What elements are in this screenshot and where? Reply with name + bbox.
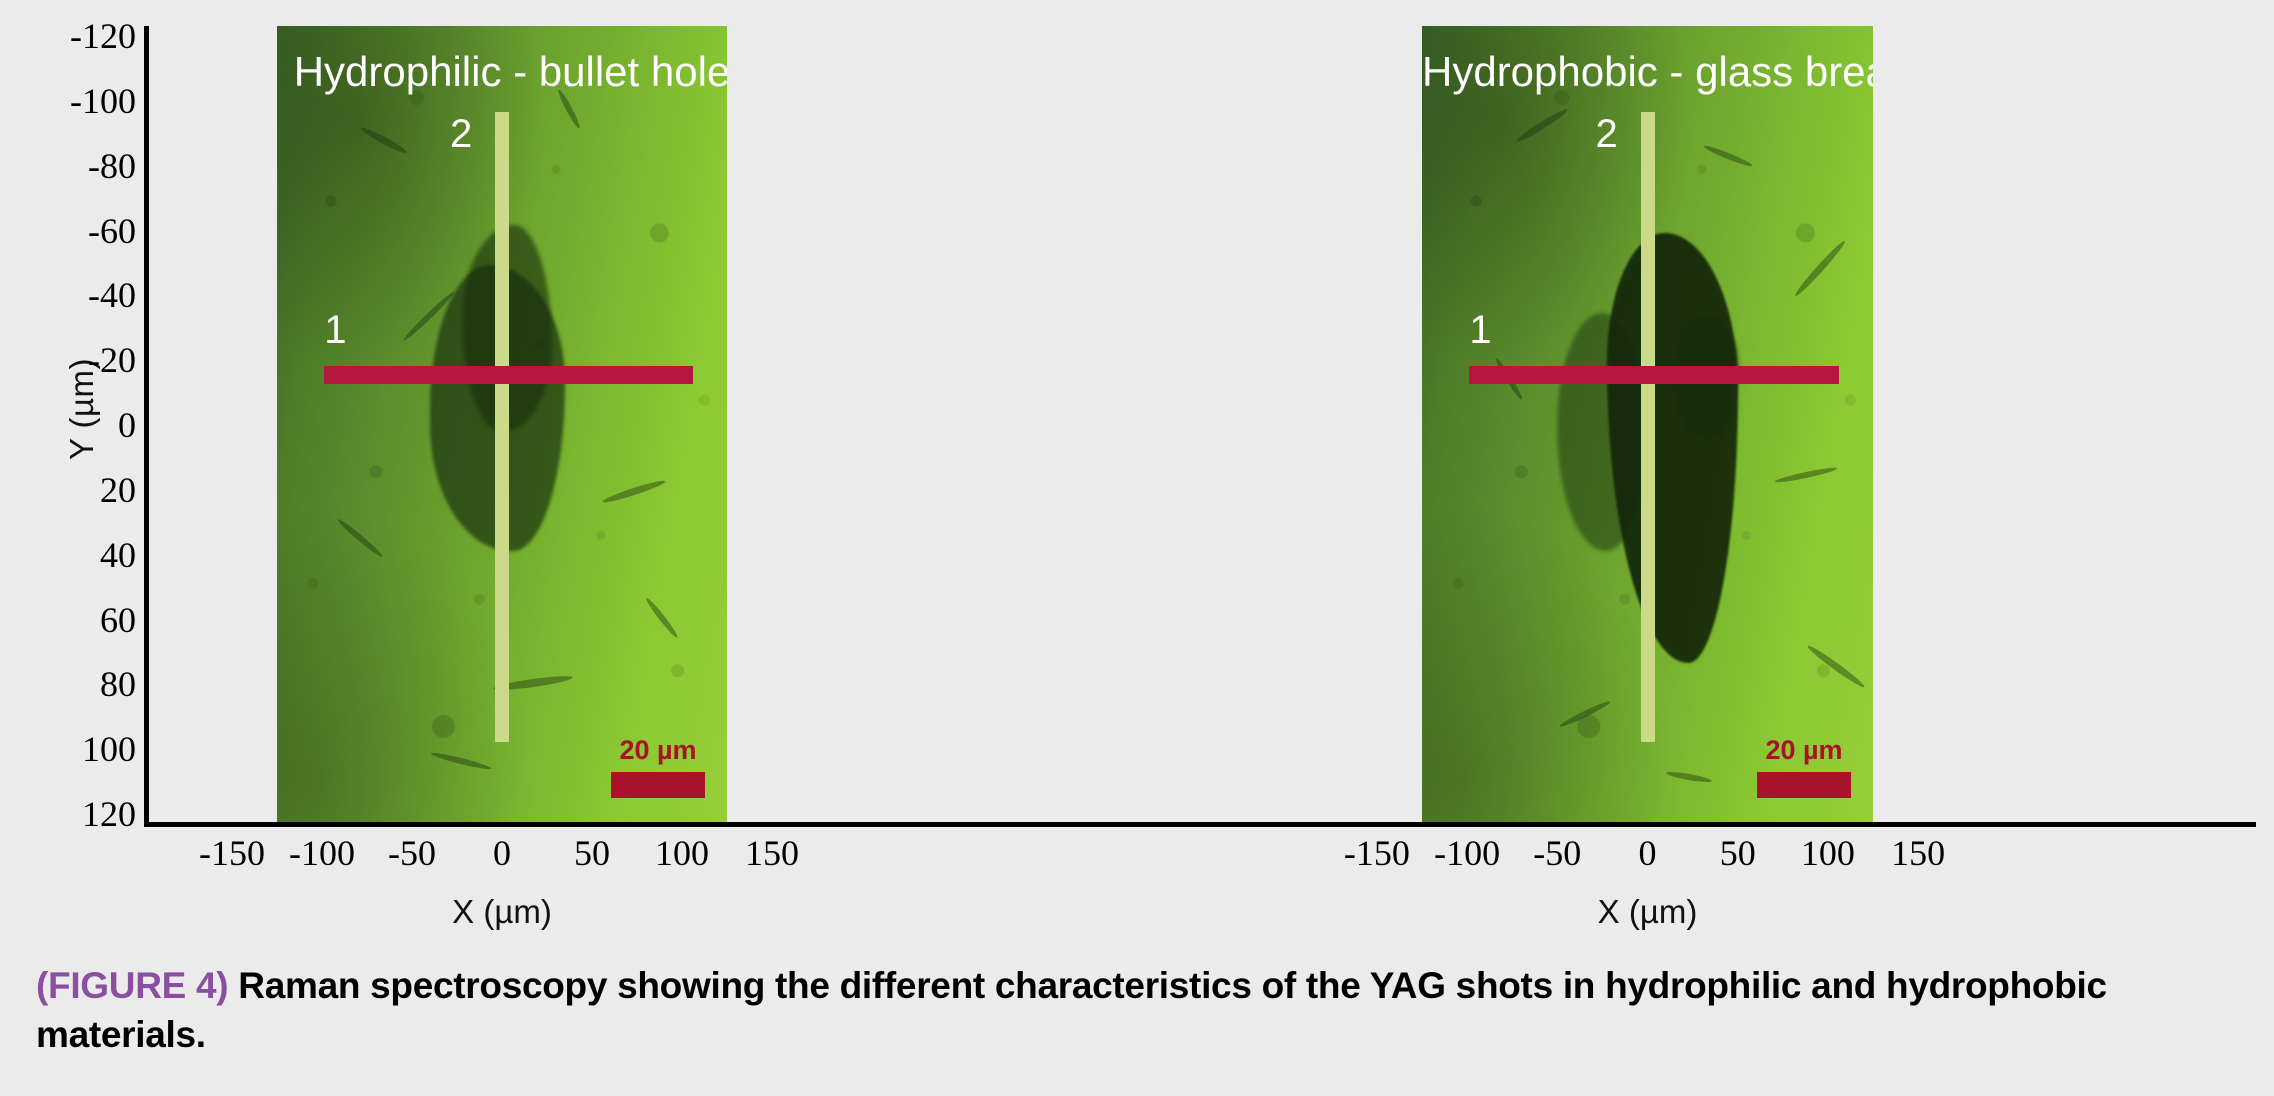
y-axis-spine <box>144 26 149 826</box>
scan-line-1-label: 1 <box>1469 308 1491 353</box>
figure-plot-area: Y (µm) -120-100-80-60-40-200204060801001… <box>0 0 2274 950</box>
figure-caption-text: Raman spectroscopy showing the different… <box>36 965 2107 1055</box>
scalebar-rect <box>611 772 705 798</box>
y-tick-label: 0 <box>40 407 136 443</box>
x-tick-label: 150 <box>707 832 837 874</box>
scan-line-horizontal <box>324 366 693 384</box>
figure-number-tag: (FIGURE 4) <box>36 965 228 1006</box>
y-tick-label: 20 <box>40 472 136 508</box>
y-tick-label: -60 <box>40 213 136 249</box>
y-tick-label: -20 <box>40 342 136 378</box>
y-tick-label: -120 <box>40 18 136 54</box>
scalebar-hydrophobic: 20 µm <box>1757 737 1851 798</box>
panel-title-hydrophilic: Hydrophilic - bullet hole <box>277 48 727 96</box>
x-axis-label: X (µm) <box>372 893 632 931</box>
y-tick-label: -40 <box>40 277 136 313</box>
y-tick-label: 100 <box>40 731 136 767</box>
scan-line-2-label: 2 <box>450 112 472 157</box>
scalebar-label: 20 µm <box>611 737 705 764</box>
scan-line-2-label: 2 <box>1596 112 1618 157</box>
scalebar-label: 20 µm <box>1757 737 1851 764</box>
micrograph-panel-hydrophilic[interactable]: Hydrophilic - bullet hole 2 1 20 µm <box>277 26 727 822</box>
scalebar-rect <box>1757 772 1851 798</box>
figure-caption: (FIGURE 4)Raman spectroscopy showing the… <box>36 962 2246 1060</box>
scan-line-1-label: 1 <box>324 308 346 353</box>
y-tick-label: 40 <box>40 537 136 573</box>
y-tick-label: 80 <box>40 666 136 702</box>
x-axis-label: X (µm) <box>1518 893 1778 931</box>
scan-line-horizontal <box>1469 366 1839 384</box>
scalebar-hydrophilic: 20 µm <box>611 737 705 798</box>
y-axis-tick-labels: -120-100-80-60-40-20020406080100120 <box>40 0 136 830</box>
y-tick-label: -100 <box>40 83 136 119</box>
y-tick-label: 120 <box>40 796 136 832</box>
y-tick-label: -80 <box>40 148 136 184</box>
scan-line-vertical <box>1641 112 1655 742</box>
x-axis-spine <box>144 822 2256 827</box>
micrograph-panel-hydrophobic[interactable]: Hydrophobic - glass breakage 2 1 20 µm <box>1422 26 1873 822</box>
x-tick-label: 150 <box>1853 832 1983 874</box>
x-axis-tick-labels: -150-100-50050100150-150-100-50050100150 <box>0 832 2274 892</box>
y-tick-label: 60 <box>40 602 136 638</box>
scan-line-vertical <box>495 112 509 742</box>
panel-title-hydrophobic: Hydrophobic - glass breakage <box>1422 48 1873 96</box>
